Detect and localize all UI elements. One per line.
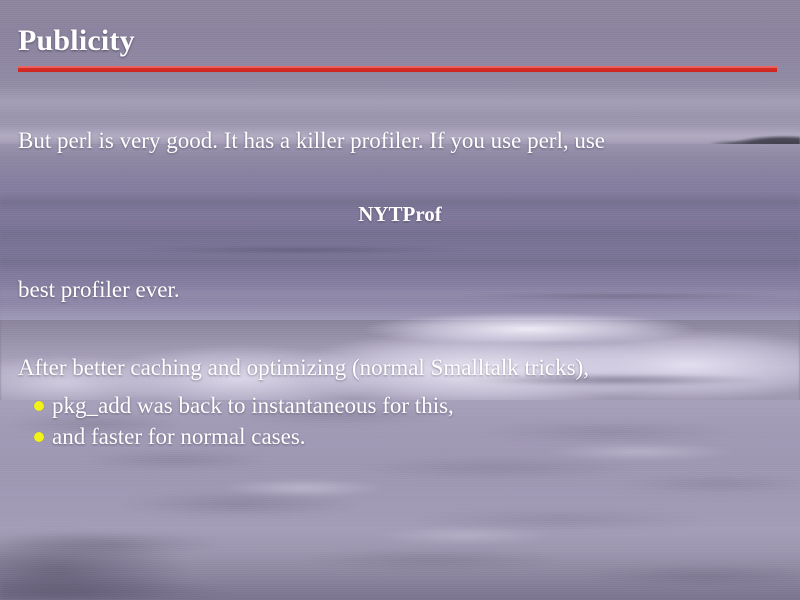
list-item: pkg_add was back to instantaneous for th… <box>34 390 454 421</box>
paragraph-after-caching: After better caching and optimizing (nor… <box>18 355 589 381</box>
page-title: Publicity <box>18 24 135 58</box>
bullet-dot-icon <box>34 432 44 442</box>
slide-content: Publicity But perl is very good. It has … <box>0 0 800 600</box>
bullet-list: pkg_add was back to instantaneous for th… <box>34 390 454 452</box>
paragraph-best-profiler: best profiler ever. <box>18 277 180 303</box>
list-item: and faster for normal cases. <box>34 421 454 452</box>
title-underline-rule <box>18 66 777 72</box>
bullet-dot-icon <box>34 401 44 411</box>
paragraph-intro: But perl is very good. It has a killer p… <box>18 128 605 154</box>
list-item-label: pkg_add was back to instantaneous for th… <box>52 393 454 418</box>
list-item-label: and faster for normal cases. <box>52 424 306 449</box>
paragraph-nytprof-callout: NYTProf <box>0 203 800 227</box>
slide: Publicity But perl is very good. It has … <box>0 0 800 600</box>
